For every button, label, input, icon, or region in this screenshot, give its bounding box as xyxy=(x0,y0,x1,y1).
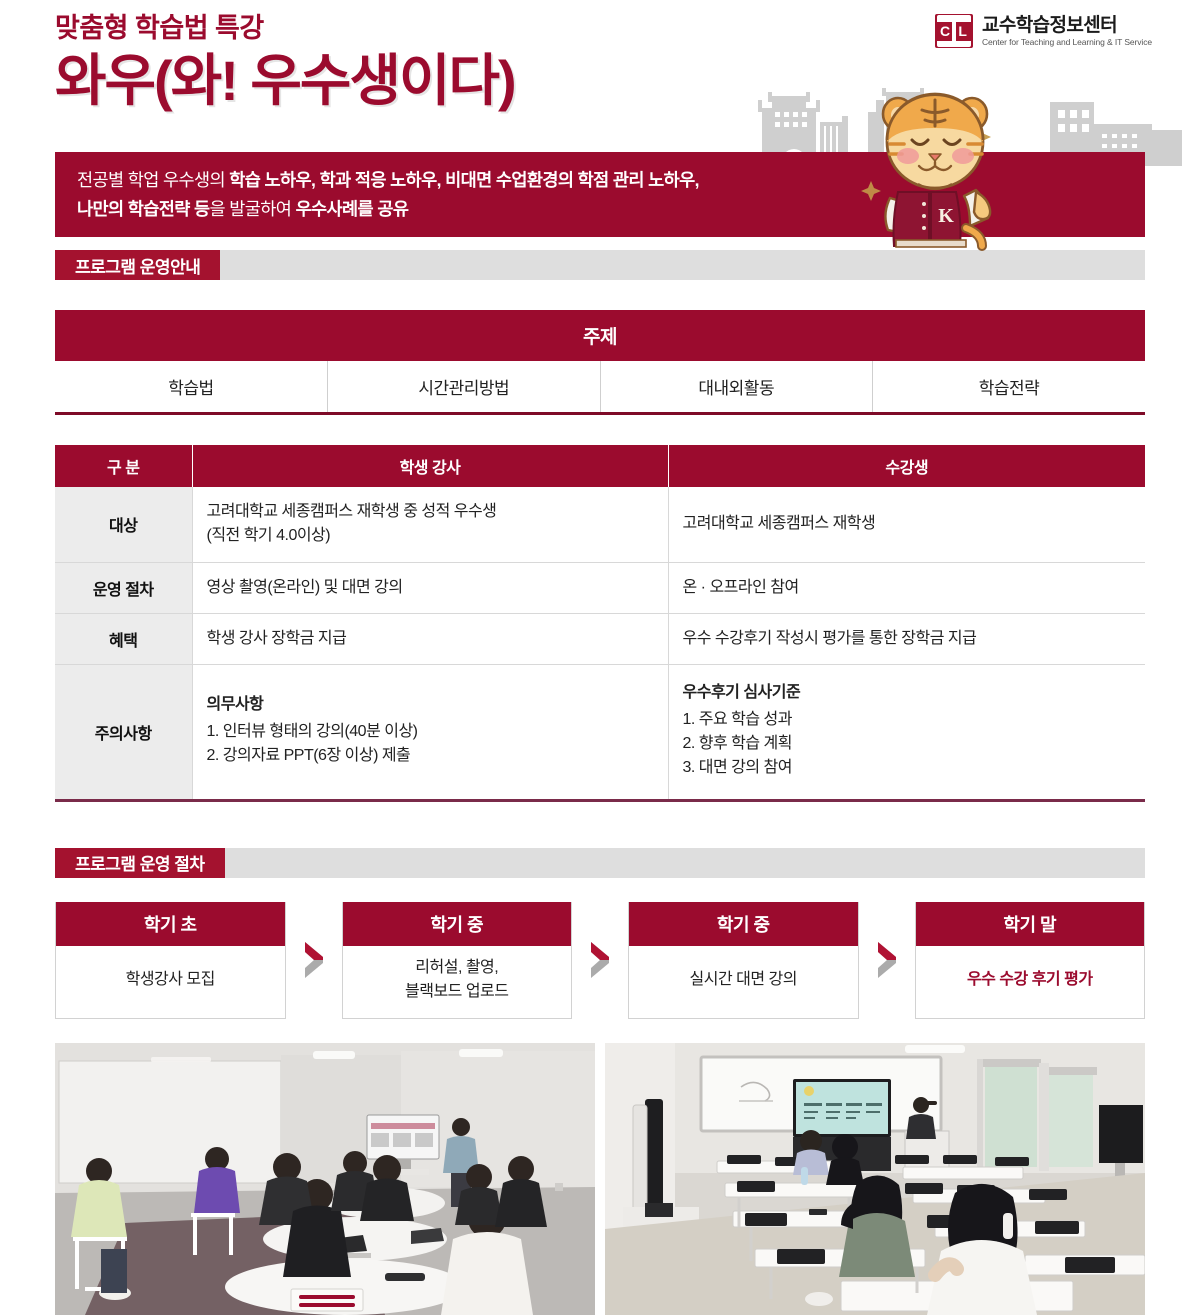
instructor-line: (직전 학기 4.0이상) xyxy=(207,524,668,548)
chevron-right-icon xyxy=(301,938,327,982)
logo-name-korean: 교수학습정보센터 xyxy=(982,16,1152,36)
description-text-bold-1: 학습 노하우, 학과 적응 노하우, 비대면 수업환경의 학점 관리 노하우, xyxy=(229,170,699,190)
topic-table-header-row: 주제 xyxy=(55,310,1145,361)
flow-step-line: 우수 수강 후기 평가 xyxy=(967,968,1093,992)
flow-step-0: 학기 초 학생강사 모집 xyxy=(55,902,286,1019)
poster-header: K xyxy=(0,0,1200,250)
photo-classroom xyxy=(605,1043,1145,1315)
flow-step-line: 블랙보드 업로드 xyxy=(405,980,509,1004)
table-row: 대상 고려대학교 세종캠퍼스 재학생 중 성적 우수생 (직전 학기 4.0이상… xyxy=(55,487,1145,562)
flow-step-line: 리허설, 촬영, xyxy=(415,956,498,980)
student-line: 2. 향후 학습 계획 xyxy=(683,732,1146,756)
instructor-line: 1. 인터뷰 형태의 강의(40분 이상) xyxy=(207,720,668,744)
table-row: 주의사항 의무사항 1. 인터뷰 형태의 강의(40분 이상) 2. 강의자료 … xyxy=(55,665,1145,800)
photo-gallery xyxy=(55,1043,1145,1315)
book-icon: C L xyxy=(935,14,973,48)
process-flow: 학기 초 학생강사 모집 학기 중 리허설, 촬영, 블랙보드 업로드 학기 중… xyxy=(55,902,1145,1019)
student-line: 우수 수강후기 작성시 평가를 통한 장학금 지급 xyxy=(683,627,1146,651)
student-line: 1. 주요 학습 성과 xyxy=(683,708,1146,732)
description-text-normal-2: 을 발굴하여 xyxy=(210,199,296,219)
section-title-program-guide: 프로그램 운영안내 xyxy=(55,250,220,280)
flow-step-phase-3: 학기 말 xyxy=(916,902,1145,946)
description-text-bold-2: 나만의 학습전략 등 xyxy=(77,199,210,219)
flow-step-1: 학기 중 리허설, 촬영, 블랙보드 업로드 xyxy=(342,902,573,1019)
info-row-label-0: 대상 xyxy=(55,487,192,562)
topic-cell-0: 학습법 xyxy=(55,361,328,414)
info-row-student-0: 고려대학교 세종캠퍼스 재학생 xyxy=(668,487,1145,562)
program-info-table: 구 분 학생 강사 수강생 대상 고려대학교 세종캠퍼스 재학생 중 성적 우수… xyxy=(55,445,1145,802)
flow-step-phase-2: 학기 중 xyxy=(629,902,858,946)
logo-letter-c: C xyxy=(940,23,950,39)
flow-step-body-0: 학생강사 모집 xyxy=(56,946,285,1018)
topic-cell-1: 시간관리방법 xyxy=(328,361,601,414)
svg-text:K: K xyxy=(938,205,954,227)
table-row: 혜택 학생 강사 장학금 지급 우수 수강후기 작성시 평가를 통한 장학금 지… xyxy=(55,613,1145,664)
info-row-student-3: 우수후기 심사기준 1. 주요 학습 성과 2. 향후 학습 계획 3. 대면 … xyxy=(668,665,1145,800)
instructor-line: 영상 촬영(온라인) 및 대면 강의 xyxy=(207,576,668,600)
chevron-right-icon xyxy=(587,938,613,982)
info-row-instructor-0: 고려대학교 세종캠퍼스 재학생 중 성적 우수생 (직전 학기 4.0이상) xyxy=(192,487,668,562)
flow-step-body-2: 실시간 대면 강의 xyxy=(629,946,858,1018)
student-line: 온 · 오프라인 참여 xyxy=(683,576,1146,600)
info-col-header-instructor: 학생 강사 xyxy=(192,445,668,487)
flow-step-line: 학생강사 모집 xyxy=(126,968,215,992)
instructor-line: 학생 강사 장학금 지급 xyxy=(207,627,668,651)
instructor-line: 2. 강의자료 PPT(6장 이상) 제출 xyxy=(207,744,668,768)
info-row-student-1: 온 · 오프라인 참여 xyxy=(668,562,1145,613)
topic-table: 주제 학습법 시간관리방법 대내외활동 학습전략 xyxy=(55,310,1145,415)
info-row-student-2: 우수 수강후기 작성시 평가를 통한 장학금 지급 xyxy=(668,613,1145,664)
logo-letter-l: L xyxy=(958,23,967,39)
flow-step-phase-1: 학기 중 xyxy=(343,902,572,946)
flow-step-2: 학기 중 실시간 대면 강의 xyxy=(628,902,859,1019)
info-col-header-student: 수강생 xyxy=(668,445,1145,487)
flow-step-phase-0: 학기 초 xyxy=(56,902,285,946)
photo-seminar-room xyxy=(55,1043,595,1315)
title-block: 맞춤형 학습법 특강 와우(와! 우수생이다) xyxy=(55,14,515,112)
info-row-instructor-1: 영상 촬영(온라인) 및 대면 강의 xyxy=(192,562,668,613)
tiger-mascot: K xyxy=(850,70,1025,255)
description-text-normal-1: 전공별 학업 우수생의 xyxy=(77,170,229,190)
topic-cell-3: 학습전략 xyxy=(873,361,1146,414)
topic-cell-2: 대내외활동 xyxy=(600,361,873,414)
description-text-bold-3: 우수사례를 공유 xyxy=(296,199,409,219)
chevron-right-icon xyxy=(874,938,900,982)
info-row-instructor-2: 학생 강사 장학금 지급 xyxy=(192,613,668,664)
table-row: 운영 절차 영상 촬영(온라인) 및 대면 강의 온 · 오프라인 참여 xyxy=(55,562,1145,613)
ctl-logo: C L 교수학습정보센터 Center for Teaching and Lea… xyxy=(935,14,1152,48)
flow-arrow-2 xyxy=(859,902,915,1019)
instructor-subheading: 의무사항 xyxy=(207,693,668,717)
flow-arrow-0 xyxy=(286,902,342,1019)
info-col-header-division: 구 분 xyxy=(55,445,192,487)
flow-arrow-1 xyxy=(572,902,628,1019)
info-row-label-2: 혜택 xyxy=(55,613,192,664)
flow-step-body-3: 우수 수강 후기 평가 xyxy=(916,946,1145,1018)
topic-table-header: 주제 xyxy=(55,310,1145,361)
flow-step-3: 학기 말 우수 수강 후기 평가 xyxy=(915,902,1146,1019)
flow-step-body-1: 리허설, 촬영, 블랙보드 업로드 xyxy=(343,946,572,1018)
student-line: 3. 대면 강의 참여 xyxy=(683,756,1146,780)
info-table-header-row: 구 분 학생 강사 수강생 xyxy=(55,445,1145,487)
poster-kicker: 맞춤형 학습법 특강 xyxy=(55,14,515,44)
logo-name-english: Center for Teaching and Learning & IT Se… xyxy=(982,38,1152,47)
info-row-label-1: 운영 절차 xyxy=(55,562,192,613)
section-title-program-process: 프로그램 운영 절차 xyxy=(55,848,225,878)
page-title: 와우(와! 우수생이다) xyxy=(55,50,515,113)
instructor-line: 고려대학교 세종캠퍼스 재학생 중 성적 우수생 xyxy=(207,500,668,524)
flow-step-line: 실시간 대면 강의 xyxy=(690,968,797,992)
section-header-program-process: 프로그램 운영 절차 xyxy=(55,848,1145,878)
info-row-label-3: 주의사항 xyxy=(55,665,192,800)
student-line: 고려대학교 세종캠퍼스 재학생 xyxy=(683,512,1146,536)
topic-table-row: 학습법 시간관리방법 대내외활동 학습전략 xyxy=(55,361,1145,414)
student-subheading: 우수후기 심사기준 xyxy=(683,681,1146,705)
info-row-instructor-3: 의무사항 1. 인터뷰 형태의 강의(40분 이상) 2. 강의자료 PPT(6… xyxy=(192,665,668,800)
